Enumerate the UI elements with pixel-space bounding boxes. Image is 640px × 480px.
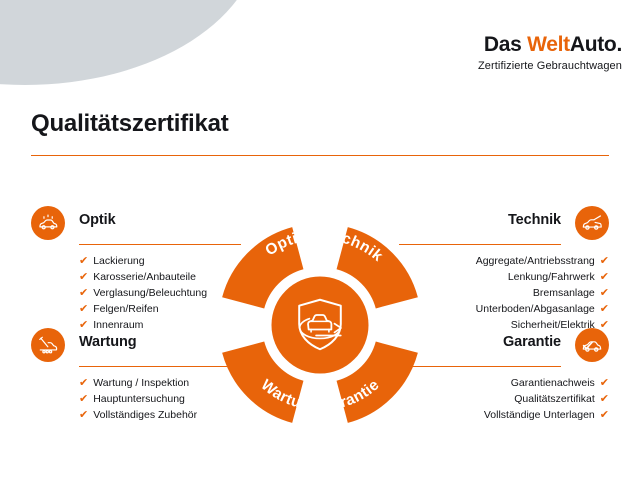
check-icon: ✔ bbox=[600, 377, 609, 389]
section-wartung-divider bbox=[79, 366, 241, 367]
center-donut-diagram: Optik Technik Wartung Garantie bbox=[221, 226, 419, 424]
list-item: ✔Hauptuntersuchung bbox=[79, 391, 241, 407]
list-item-label: Unterboden/Abgasanlage bbox=[476, 303, 595, 315]
check-icon: ✔ bbox=[600, 255, 609, 267]
check-icon: ✔ bbox=[79, 255, 88, 267]
brand-logo: Das WeltAuto. Zertifizierte Gebrauchtwag… bbox=[478, 34, 622, 72]
section-garantie-divider bbox=[399, 366, 561, 367]
list-item: Garantienachweis✔ bbox=[399, 375, 609, 391]
list-item-label: Lackierung bbox=[93, 255, 144, 267]
check-icon: ✔ bbox=[79, 377, 88, 389]
section-garantie-list: Garantienachweis✔ Qualitätszertifikat✔ V… bbox=[399, 375, 609, 423]
check-icon: ✔ bbox=[79, 271, 88, 283]
logo-prefix: Das bbox=[484, 33, 527, 56]
list-item-label: Garantienachweis bbox=[511, 377, 595, 389]
check-icon: ✔ bbox=[600, 271, 609, 283]
list-item: Vollständige Unterlagen✔ bbox=[399, 407, 609, 423]
list-item-label: Verglasung/Beleuchtung bbox=[93, 287, 207, 299]
list-item: Bremsanlage✔ bbox=[399, 285, 609, 301]
check-icon: ✔ bbox=[600, 303, 609, 315]
list-item-label: Hauptuntersuchung bbox=[93, 393, 185, 405]
logo-suffix: Auto. bbox=[570, 33, 622, 56]
list-item: ✔Lackierung bbox=[79, 253, 241, 269]
car-wrench-icon bbox=[31, 328, 65, 362]
list-item: ✔Verglasung/Beleuchtung bbox=[79, 285, 241, 301]
list-item: ✔Karosserie/Anbauteile bbox=[79, 269, 241, 285]
section-optik-header: Optik bbox=[31, 206, 241, 242]
list-item-label: Vollständiges Zubehör bbox=[93, 409, 197, 421]
list-item-label: Lenkung/Fahrwerk bbox=[508, 271, 595, 283]
list-item-label: Vollständige Unterlagen bbox=[484, 409, 595, 421]
certificate-page: Das WeltAuto. Zertifizierte Gebrauchtwag… bbox=[0, 0, 640, 480]
list-item-label: Aggregate/Antriebsstrang bbox=[476, 255, 595, 267]
check-icon: ✔ bbox=[79, 303, 88, 315]
list-item: Aggregate/Antriebsstrang✔ bbox=[399, 253, 609, 269]
list-item-label: Qualitätszertifikat bbox=[514, 393, 595, 405]
list-item: ✔Felgen/Reifen bbox=[79, 301, 241, 317]
title-divider bbox=[31, 155, 609, 156]
section-wartung-heading: Wartung bbox=[79, 334, 137, 350]
check-icon: ✔ bbox=[600, 393, 609, 405]
list-item-label: Karosserie/Anbauteile bbox=[93, 271, 196, 283]
list-item: Qualitätszertifikat✔ bbox=[399, 391, 609, 407]
list-item-label: Bremsanlage bbox=[533, 287, 595, 299]
check-icon: ✔ bbox=[79, 393, 88, 405]
car-sparkle-icon bbox=[31, 206, 65, 240]
section-optik-heading: Optik bbox=[79, 212, 116, 228]
donut-svg: Optik Technik Wartung Garantie bbox=[221, 226, 419, 424]
section-garantie-header: Garantie bbox=[399, 328, 609, 364]
section-optik: Optik ✔Lackierung ✔Karosserie/Anbauteile… bbox=[31, 206, 241, 333]
list-item-label: Wartung / Inspektion bbox=[93, 377, 189, 389]
list-item: ✔Vollständiges Zubehör bbox=[79, 407, 241, 423]
logo-wordmark: Das WeltAuto. bbox=[478, 34, 622, 55]
check-icon: ✔ bbox=[79, 409, 88, 421]
list-item-label: Felgen/Reifen bbox=[93, 303, 158, 315]
page-title: Qualitätszertifikat bbox=[31, 110, 229, 138]
section-technik: Technik Aggregate/Antriebsstrang✔ Lenkun… bbox=[399, 206, 609, 333]
section-technik-heading: Technik bbox=[508, 212, 561, 228]
list-item: ✔Wartung / Inspektion bbox=[79, 375, 241, 391]
logo-subtitle: Zertifizierte Gebrauchtwagen bbox=[478, 61, 622, 72]
section-technik-divider bbox=[399, 244, 561, 245]
section-optik-list: ✔Lackierung ✔Karosserie/Anbauteile ✔Verg… bbox=[79, 253, 241, 333]
section-garantie: Garantie Garantienachweis✔ Qualitätszert… bbox=[399, 328, 609, 423]
list-item: Lenkung/Fahrwerk✔ bbox=[399, 269, 609, 285]
check-icon: ✔ bbox=[600, 409, 609, 421]
section-technik-list: Aggregate/Antriebsstrang✔ Lenkung/Fahrwe… bbox=[399, 253, 609, 333]
check-icon: ✔ bbox=[79, 287, 88, 299]
logo-accent: Welt bbox=[527, 33, 570, 56]
decorative-gray-blob bbox=[0, 0, 260, 85]
section-wartung-list: ✔Wartung / Inspektion ✔Hauptuntersuchung… bbox=[79, 375, 241, 423]
car-check-icon bbox=[575, 328, 609, 362]
car-open-hood-icon bbox=[575, 206, 609, 240]
list-item: Unterboden/Abgasanlage✔ bbox=[399, 301, 609, 317]
section-garantie-heading: Garantie bbox=[503, 334, 561, 350]
donut-hub bbox=[271, 276, 368, 373]
check-icon: ✔ bbox=[600, 287, 609, 299]
section-wartung-header: Wartung bbox=[31, 328, 241, 364]
section-technik-header: Technik bbox=[399, 206, 609, 242]
section-wartung: Wartung ✔Wartung / Inspektion ✔Hauptunte… bbox=[31, 328, 241, 423]
section-optik-divider bbox=[79, 244, 241, 245]
